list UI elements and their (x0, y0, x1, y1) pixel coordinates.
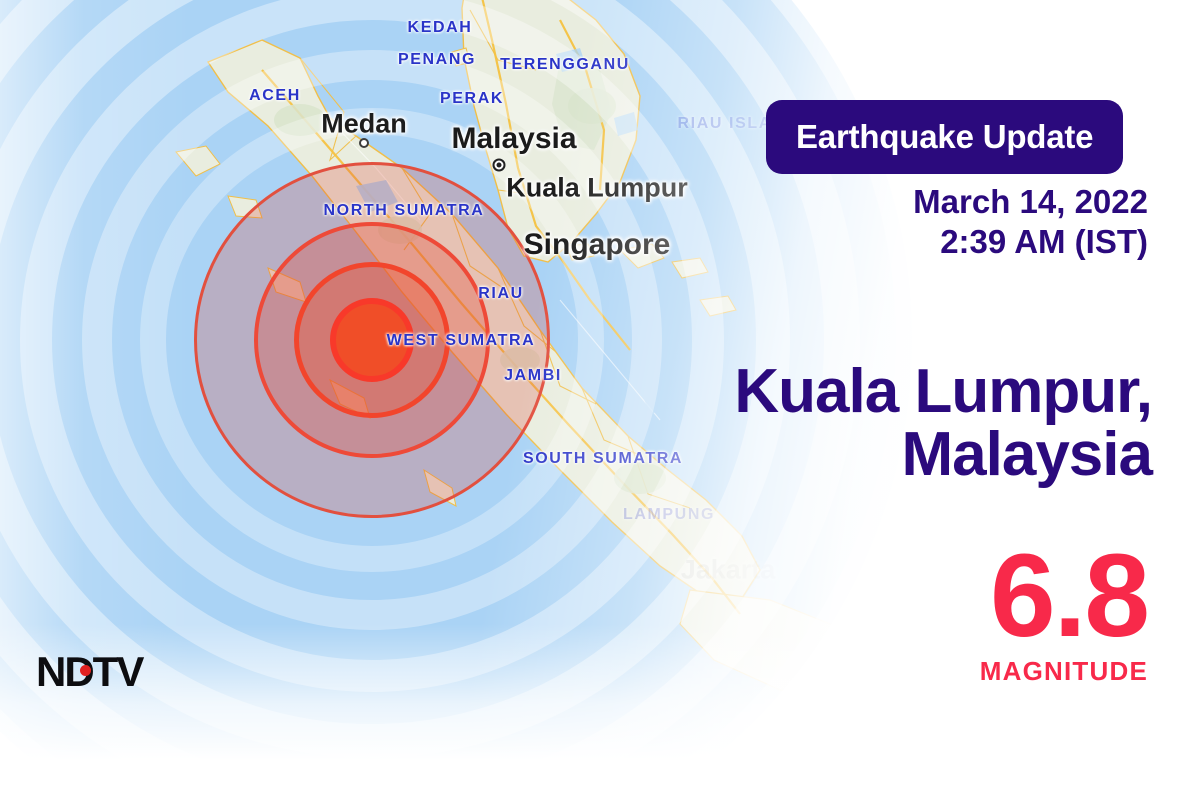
event-datetime: March 14, 2022 2:39 AM (IST) (913, 182, 1148, 263)
ndtv-logo: NDTV (36, 648, 142, 696)
location-line-2: Malaysia (734, 423, 1152, 486)
earthquake-update-graphic: KEDAHPENANGTERENGGANUPERAKACEHRIAU ISLAN… (0, 0, 1200, 800)
location-line-1: Kuala Lumpur, (734, 360, 1152, 423)
magnitude-value: 6.8 (980, 540, 1148, 652)
ndtv-logo-dot (80, 665, 91, 676)
event-location: Kuala Lumpur, Malaysia (734, 360, 1152, 486)
earthquake-update-badge: Earthquake Update (766, 100, 1123, 174)
magnitude-label: MAGNITUDE (980, 656, 1148, 687)
magnitude-block: 6.8 MAGNITUDE (980, 540, 1148, 687)
event-date: March 14, 2022 (913, 182, 1148, 222)
badge-label: Earthquake Update (796, 118, 1093, 156)
event-time: 2:39 AM (IST) (913, 222, 1148, 262)
